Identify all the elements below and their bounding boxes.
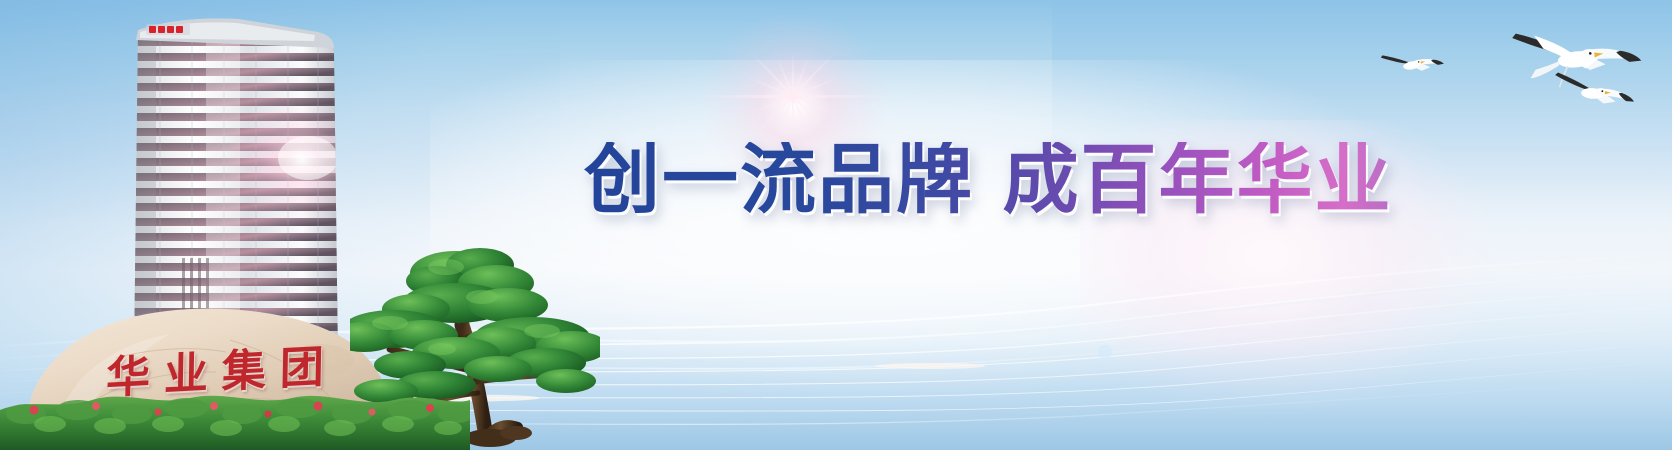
seagull-flock [1372, 0, 1672, 140]
flowering-hedge [0, 380, 470, 450]
banner-headline: 创一流品牌 成百年华业 [584, 130, 1364, 230]
seagull-icon [1512, 21, 1643, 92]
headline-text: 创一流品牌 成百年华业 [584, 142, 1392, 218]
hero-banner: 华业集团 [0, 0, 1672, 450]
seagull-icon [1380, 45, 1444, 77]
rooftop-sign-icon [146, 24, 190, 35]
seagull-icon [1553, 72, 1635, 105]
